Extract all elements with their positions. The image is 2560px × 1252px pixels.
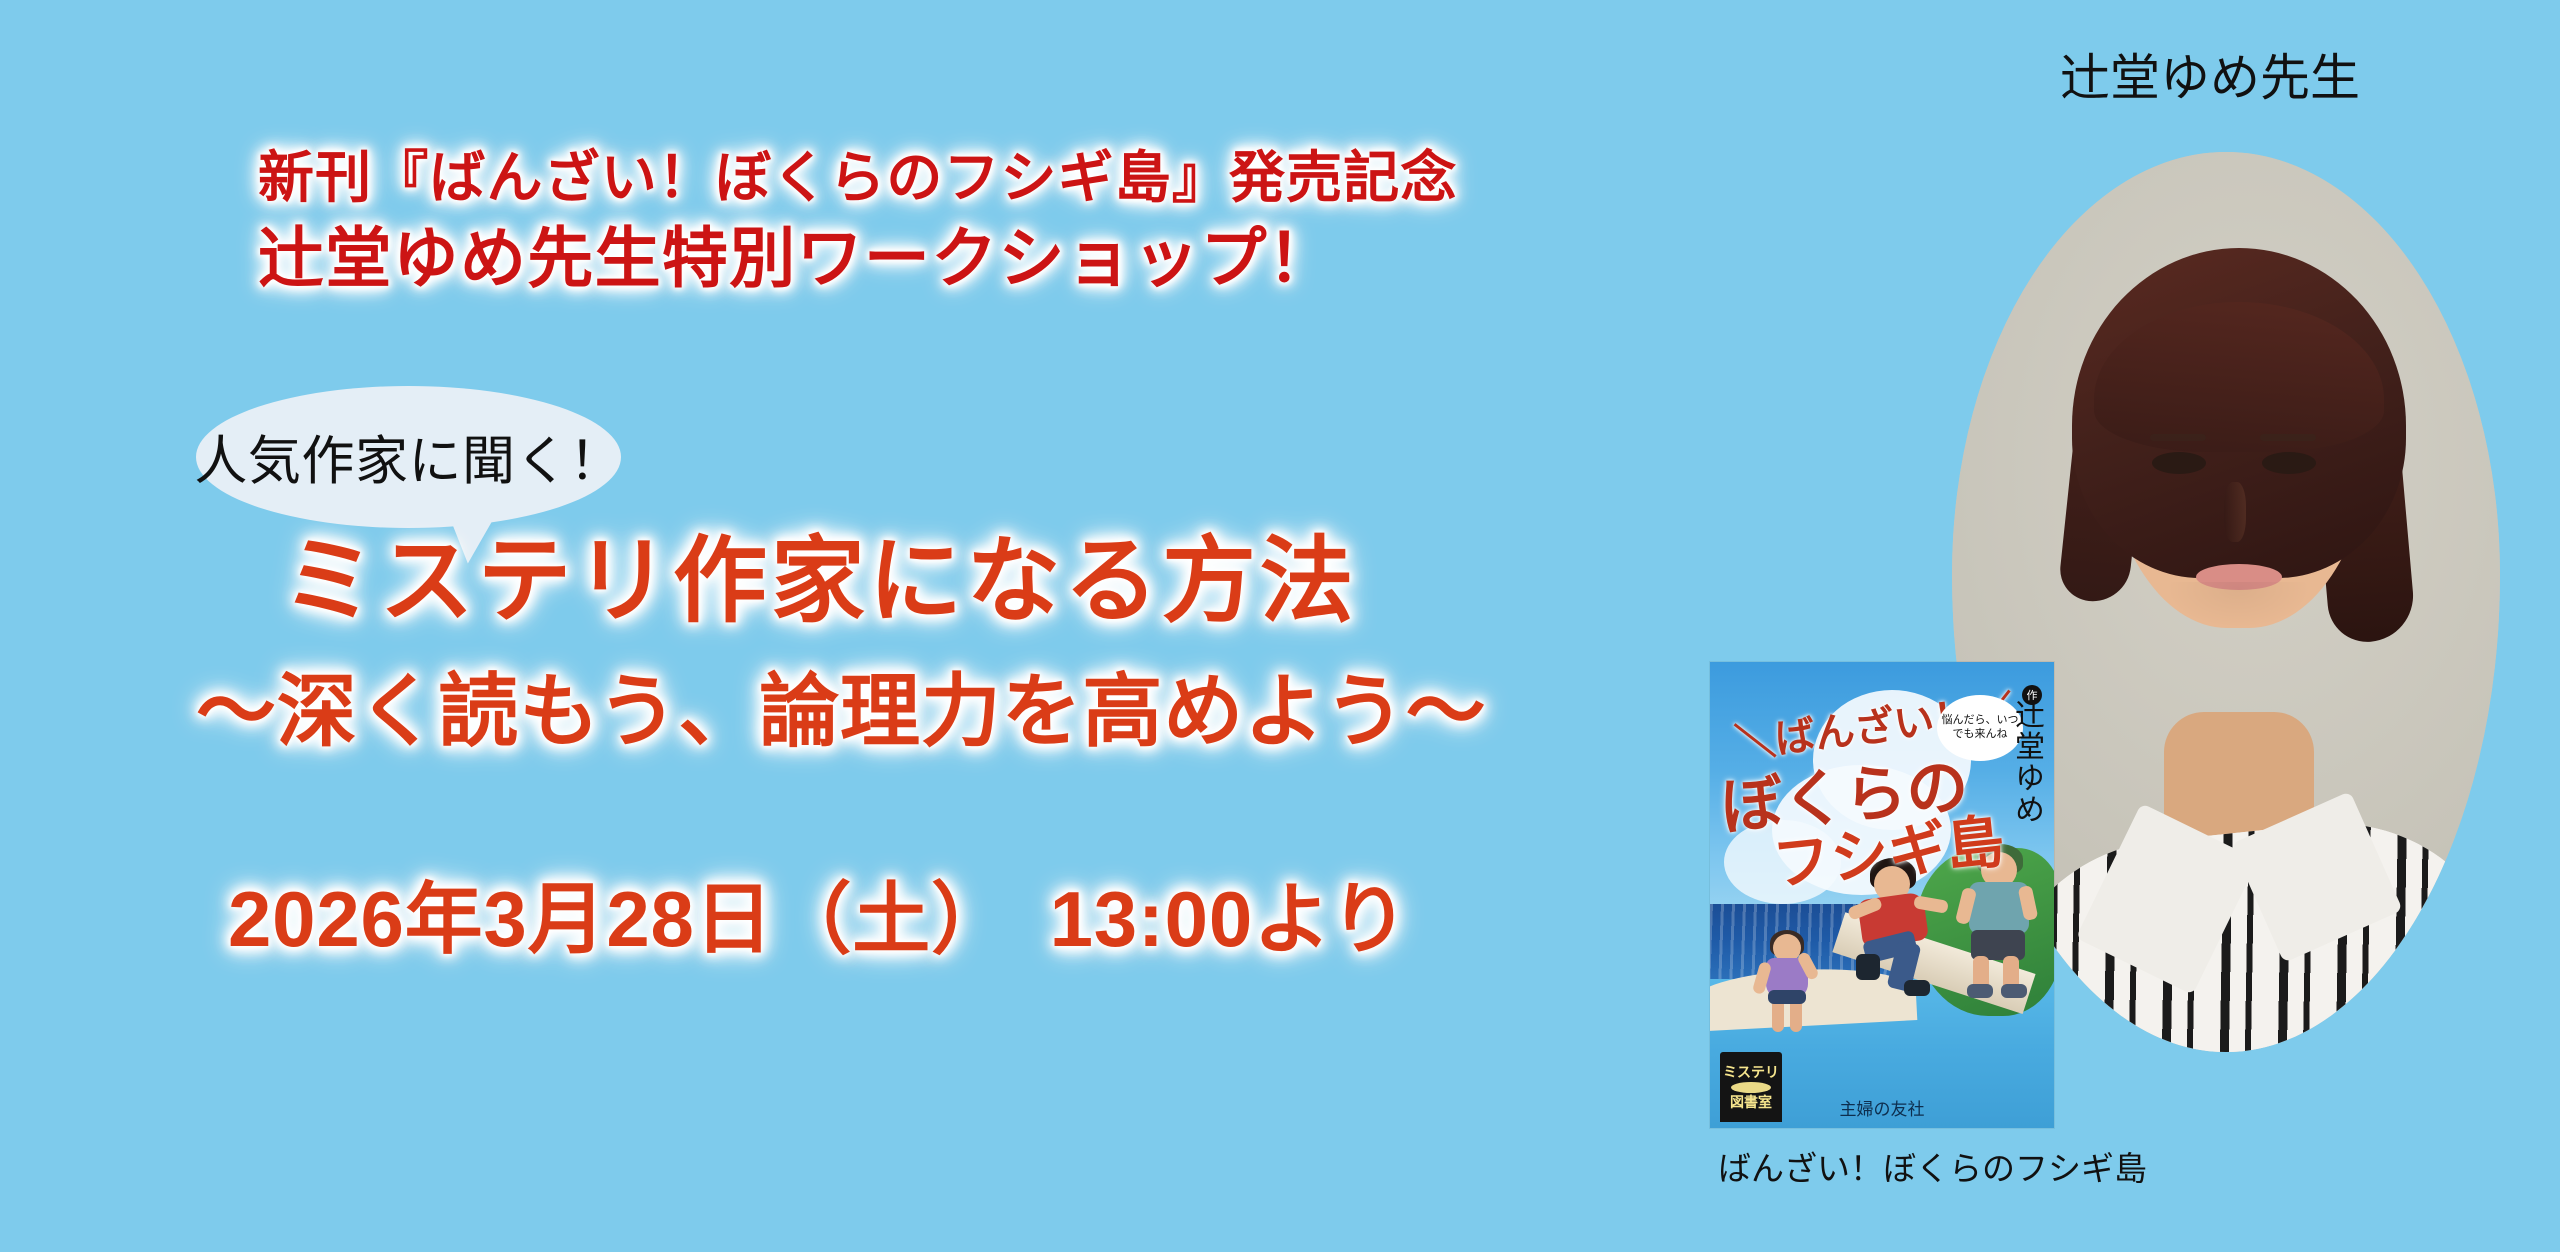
cover-publisher: 主婦の友社	[1840, 1095, 1925, 1120]
eyebrow-right	[2260, 434, 2316, 441]
eyebrow-left	[2150, 434, 2206, 441]
cover-kid-girl	[1758, 932, 1818, 1042]
speech-bubble: 人気作家に聞く！	[196, 386, 621, 528]
mystery-library-badge: ミステリ 図書室	[1720, 1052, 1782, 1122]
badge-line-1: ミステリ	[1723, 1065, 1779, 1080]
page-subtitle: 〜深く読もう、論理力を高めよう〜	[196, 672, 1486, 752]
book-cover: ＼ばんざい！／ ぼくらの フシギ島 悩んだら、いつでも来んね 作 辻堂ゆめ 主婦…	[1710, 662, 2054, 1128]
page-title: ミステリ作家になる方法	[282, 534, 1357, 628]
header-line-2: 辻堂ゆめ先生特別ワークショップ！	[258, 225, 1335, 291]
chin-shadow	[2152, 582, 2324, 652]
cover-author-name: 辻堂ゆめ	[2006, 699, 2048, 825]
nose	[2224, 482, 2246, 542]
portrait-name-label: 辻堂ゆめ先生	[2060, 38, 2360, 110]
poster-canvas: 新刊『ばんざい！ぼくらのフシギ島』発売記念 辻堂ゆめ先生特別ワークショップ！ 人…	[0, 0, 2560, 1252]
event-datetime: 2026年3月28日（土） 13:00より	[228, 880, 1409, 958]
book-caption: ばんざい！ぼくらのフシギ島	[1718, 1142, 2147, 1190]
badge-line-2: 図書室	[1730, 1095, 1772, 1110]
speech-bubble-text: 人気作家に聞く！	[196, 386, 621, 528]
glasses-icon	[1731, 1082, 1771, 1093]
eye-left	[2152, 452, 2206, 474]
header-line-1: 新刊『ばんざい！ぼくらのフシギ島』発売記念	[258, 150, 1458, 206]
eye-right	[2262, 452, 2316, 474]
